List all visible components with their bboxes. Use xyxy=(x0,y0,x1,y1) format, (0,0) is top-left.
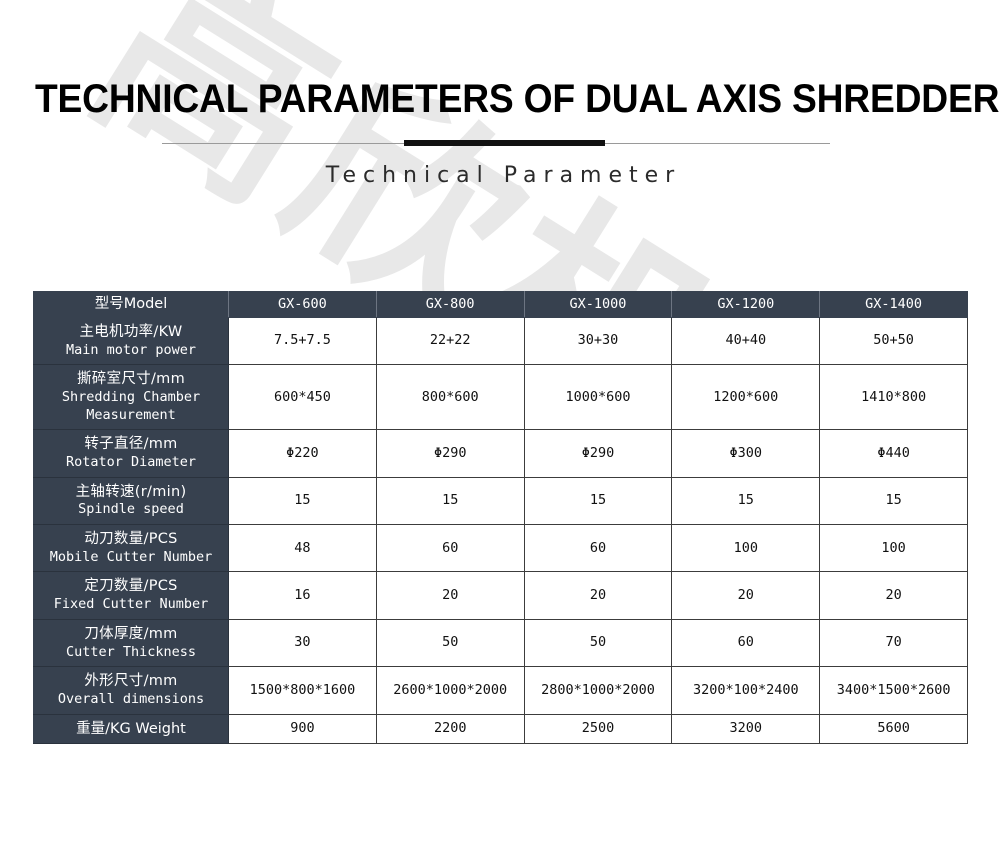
cell-r6-c1: 16 xyxy=(229,572,377,619)
row-label-cn: 定刀数量/PCS xyxy=(40,577,222,596)
table-row: 主轴转速(r/min)Spindle speed1515151515 xyxy=(34,477,968,524)
row-label-en: Shredding Chamber xyxy=(40,389,222,407)
cell-r4-c3: 15 xyxy=(524,477,672,524)
page-header: TECHNICAL PARAMETERS OF DUAL AXIS SHREDD… xyxy=(0,78,1000,188)
cell-r2-c4: 1200*600 xyxy=(672,365,820,430)
divider-accent-bar xyxy=(404,140,605,146)
cell-r7-c3: 50 xyxy=(524,619,672,666)
header-cell-model: 型号Model xyxy=(34,292,229,318)
table-row: 主电机功率/KWMain motor power7.5+7.522+2230+3… xyxy=(34,317,968,364)
cell-r6-c4: 20 xyxy=(672,572,820,619)
row-label-cn: 主电机功率/KW xyxy=(40,323,222,342)
table-row: 重量/KG Weight9002200250032005600 xyxy=(34,714,968,744)
cell-r5-c2: 60 xyxy=(376,524,524,571)
cell-r5-c5: 100 xyxy=(820,524,968,571)
cell-r8-c5: 3400*1500*2600 xyxy=(820,667,968,714)
cell-r1-c4: 40+40 xyxy=(672,317,820,364)
row-label-en: Spindle speed xyxy=(40,501,222,519)
cell-r7-c5: 70 xyxy=(820,619,968,666)
row-label-cn: 外形尺寸/mm xyxy=(40,672,222,691)
cell-r1-c1: 7.5+7.5 xyxy=(229,317,377,364)
row-label-en: Overall dimensions xyxy=(40,691,222,709)
row-label-9: 重量/KG Weight xyxy=(34,714,229,744)
cell-r9-c1: 900 xyxy=(229,714,377,744)
cell-r6-c3: 20 xyxy=(524,572,672,619)
cell-r7-c1: 30 xyxy=(229,619,377,666)
cell-r2-c3: 1000*600 xyxy=(524,365,672,430)
cell-r2-c1: 600*450 xyxy=(229,365,377,430)
row-label-en: Fixed Cutter Number xyxy=(40,596,222,614)
cell-r4-c1: 15 xyxy=(229,477,377,524)
table-row: 动刀数量/PCSMobile Cutter Number486060100100 xyxy=(34,524,968,571)
cell-r1-c3: 30+30 xyxy=(524,317,672,364)
row-label-en-2: Measurement xyxy=(40,407,222,425)
row-label-1: 主电机功率/KWMain motor power xyxy=(34,317,229,364)
row-label-en: Rotator Diameter xyxy=(40,454,222,472)
cell-r5-c3: 60 xyxy=(524,524,672,571)
table-header-row: 型号ModelGX-600GX-800GX-1000GX-1200GX-1400 xyxy=(34,292,968,318)
row-label-cn: 动刀数量/PCS xyxy=(40,530,222,549)
cell-r9-c5: 5600 xyxy=(820,714,968,744)
header-cell-model-2: GX-800 xyxy=(376,292,524,318)
table-row: 撕碎室尺寸/mmShredding ChamberMeasurement600*… xyxy=(34,365,968,430)
header-cell-model-3: GX-1000 xyxy=(524,292,672,318)
header-cell-model-5: GX-1400 xyxy=(820,292,968,318)
cell-r8-c2: 2600*1000*2000 xyxy=(376,667,524,714)
cell-r3-c1: Φ220 xyxy=(229,430,377,477)
row-label-en: Main motor power xyxy=(40,342,222,360)
cell-r4-c5: 15 xyxy=(820,477,968,524)
header-cell-model-4: GX-1200 xyxy=(672,292,820,318)
cell-r5-c4: 100 xyxy=(672,524,820,571)
row-label-en: Cutter Thickness xyxy=(40,644,222,662)
cell-r1-c5: 50+50 xyxy=(820,317,968,364)
cell-r8-c3: 2800*1000*2000 xyxy=(524,667,672,714)
table-row: 刀体厚度/mmCutter Thickness3050506070 xyxy=(34,619,968,666)
table-row: 外形尺寸/mmOverall dimensions1500*800*160026… xyxy=(34,667,968,714)
page-root: TECHNICAL PARAMETERS OF DUAL AXIS SHREDD… xyxy=(0,0,1000,864)
row-label-4: 主轴转速(r/min)Spindle speed xyxy=(34,477,229,524)
spec-table-container: 型号ModelGX-600GX-800GX-1000GX-1200GX-1400… xyxy=(33,291,967,744)
cell-r4-c2: 15 xyxy=(376,477,524,524)
cell-r6-c5: 20 xyxy=(820,572,968,619)
cell-r3-c5: Φ440 xyxy=(820,430,968,477)
page-subtitle: Technical Parameter xyxy=(0,163,1000,188)
page-title: TECHNICAL PARAMETERS OF DUAL AXIS SHREDD… xyxy=(35,78,965,120)
cell-r1-c2: 22+22 xyxy=(376,317,524,364)
header-cell-model-1: GX-600 xyxy=(229,292,377,318)
row-label-5: 动刀数量/PCSMobile Cutter Number xyxy=(34,524,229,571)
row-label-cn: 主轴转速(r/min) xyxy=(40,483,222,502)
spec-table: 型号ModelGX-600GX-800GX-1000GX-1200GX-1400… xyxy=(33,291,968,744)
cell-r7-c4: 60 xyxy=(672,619,820,666)
row-label-cn: 转子直径/mm xyxy=(40,435,222,454)
cell-r7-c2: 50 xyxy=(376,619,524,666)
row-label-cn: 刀体厚度/mm xyxy=(40,625,222,644)
table-row: 定刀数量/PCSFixed Cutter Number1620202020 xyxy=(34,572,968,619)
title-divider xyxy=(0,135,1000,153)
cell-r9-c3: 2500 xyxy=(524,714,672,744)
row-label-6: 定刀数量/PCSFixed Cutter Number xyxy=(34,572,229,619)
row-label-cn: 撕碎室尺寸/mm xyxy=(40,370,222,389)
cell-r4-c4: 15 xyxy=(672,477,820,524)
header-model-label: 型号Model xyxy=(38,295,224,314)
cell-r5-c1: 48 xyxy=(229,524,377,571)
cell-r8-c4: 3200*100*2400 xyxy=(672,667,820,714)
cell-r9-c4: 3200 xyxy=(672,714,820,744)
cell-r3-c2: Φ290 xyxy=(376,430,524,477)
table-row: 转子直径/mmRotator DiameterΦ220Φ290Φ290Φ300Φ… xyxy=(34,430,968,477)
cell-r3-c4: Φ300 xyxy=(672,430,820,477)
row-label-text: 重量/KG Weight xyxy=(40,720,222,739)
cell-r9-c2: 2200 xyxy=(376,714,524,744)
cell-r2-c5: 1410*800 xyxy=(820,365,968,430)
row-label-3: 转子直径/mmRotator Diameter xyxy=(34,430,229,477)
row-label-en: Mobile Cutter Number xyxy=(40,549,222,567)
row-label-7: 刀体厚度/mmCutter Thickness xyxy=(34,619,229,666)
cell-r6-c2: 20 xyxy=(376,572,524,619)
cell-r3-c3: Φ290 xyxy=(524,430,672,477)
row-label-8: 外形尺寸/mmOverall dimensions xyxy=(34,667,229,714)
cell-r2-c2: 800*600 xyxy=(376,365,524,430)
cell-r8-c1: 1500*800*1600 xyxy=(229,667,377,714)
row-label-2: 撕碎室尺寸/mmShredding ChamberMeasurement xyxy=(34,365,229,430)
